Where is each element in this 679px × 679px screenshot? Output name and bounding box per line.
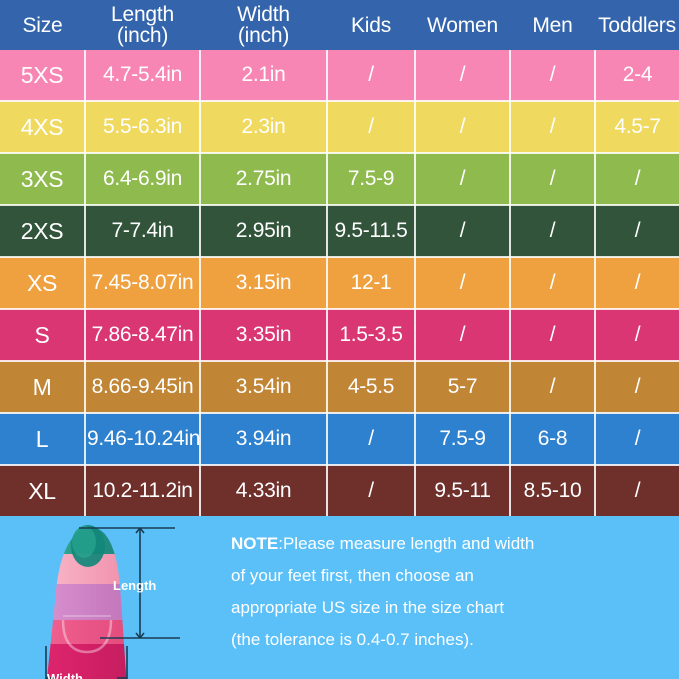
cell-length: 5.5-6.3in bbox=[85, 101, 200, 153]
table-header: Size Length (inch) Width (inch) Kids Wom… bbox=[0, 0, 679, 50]
cell-men: / bbox=[510, 101, 595, 153]
header-sublabel-width: (inch) bbox=[202, 25, 325, 46]
table-row: XS 7.45-8.07in 3.15in 12-1 / / / bbox=[0, 257, 679, 309]
cell-size: 2XS bbox=[0, 205, 85, 257]
cell-women: 7.5-9 bbox=[415, 413, 510, 465]
cell-length: 4.7-5.4in bbox=[85, 50, 200, 101]
table-row: S 7.86-8.47in 3.35in 1.5-3.5 / / / bbox=[0, 309, 679, 361]
cell-toddlers: / bbox=[595, 257, 679, 309]
size-chart-table: Size Length (inch) Width (inch) Kids Wom… bbox=[0, 0, 679, 516]
header-label-length: Length bbox=[111, 3, 174, 26]
table-row: 4XS 5.5-6.3in 2.3in / / / 4.5-7 bbox=[0, 101, 679, 153]
cell-women: 5-7 bbox=[415, 361, 510, 413]
column-header-men: Men bbox=[510, 0, 595, 50]
cell-kids: 9.5-11.5 bbox=[327, 205, 415, 257]
cell-size: 5XS bbox=[0, 50, 85, 101]
cell-women: / bbox=[415, 309, 510, 361]
cell-toddlers: 4.5-7 bbox=[595, 101, 679, 153]
cell-toddlers: / bbox=[595, 309, 679, 361]
cell-kids: 7.5-9 bbox=[327, 153, 415, 205]
note-prefix: NOTE bbox=[231, 534, 278, 553]
note-line-1-rest: :Please measure length and width bbox=[278, 534, 534, 553]
cell-men: / bbox=[510, 205, 595, 257]
cell-women: / bbox=[415, 50, 510, 101]
cell-women: / bbox=[415, 257, 510, 309]
note-line-1: NOTE:Please measure length and width bbox=[231, 528, 651, 560]
cell-length: 7.45-8.07in bbox=[85, 257, 200, 309]
cell-kids: / bbox=[327, 413, 415, 465]
cell-length: 8.66-9.45in bbox=[85, 361, 200, 413]
table-row: 5XS 4.7-5.4in 2.1in / / / 2-4 bbox=[0, 50, 679, 101]
cell-toddlers: / bbox=[595, 361, 679, 413]
cell-men: 6-8 bbox=[510, 413, 595, 465]
note-panel: Length Width NOTE:Please measure length … bbox=[0, 516, 679, 679]
cell-width: 3.54in bbox=[200, 361, 327, 413]
size-chart-page: Size Length (inch) Width (inch) Kids Wom… bbox=[0, 0, 679, 679]
cell-width: 4.33in bbox=[200, 465, 327, 516]
cell-women: / bbox=[415, 101, 510, 153]
cell-length: 7-7.4in bbox=[85, 205, 200, 257]
table-row: 2XS 7-7.4in 2.95in 9.5-11.5 / / / bbox=[0, 205, 679, 257]
note-line-2: of your feet first, then choose an bbox=[231, 560, 651, 592]
cell-size: XS bbox=[0, 257, 85, 309]
cell-kids: / bbox=[327, 101, 415, 153]
cell-length: 6.4-6.9in bbox=[85, 153, 200, 205]
header-row: Size Length (inch) Width (inch) Kids Wom… bbox=[0, 0, 679, 50]
cell-women: / bbox=[415, 153, 510, 205]
table-row: L 9.46-10.24in 3.94in / 7.5-9 6-8 / bbox=[0, 413, 679, 465]
table-row: M 8.66-9.45in 3.54in 4-5.5 5-7 / / bbox=[0, 361, 679, 413]
cell-width: 3.35in bbox=[200, 309, 327, 361]
cell-women: / bbox=[415, 205, 510, 257]
cell-size: XL bbox=[0, 465, 85, 516]
cell-length: 9.46-10.24in bbox=[85, 413, 200, 465]
cell-toddlers: / bbox=[595, 205, 679, 257]
header-label-toddlers: Toddlers bbox=[598, 14, 676, 37]
cell-toddlers: 2-4 bbox=[595, 50, 679, 101]
cell-size: 3XS bbox=[0, 153, 85, 205]
swim-fin-illustration: Length Width bbox=[0, 516, 225, 679]
cell-size: S bbox=[0, 309, 85, 361]
header-label-kids: Kids bbox=[351, 14, 391, 37]
header-label-women: Women bbox=[427, 14, 498, 37]
cell-toddlers: / bbox=[595, 413, 679, 465]
cell-size: M bbox=[0, 361, 85, 413]
column-header-kids: Kids bbox=[327, 0, 415, 50]
cell-kids: 1.5-3.5 bbox=[327, 309, 415, 361]
cell-men: 8.5-10 bbox=[510, 465, 595, 516]
cell-size: L bbox=[0, 413, 85, 465]
note-line-4: (the tolerance is 0.4-0.7 inches). bbox=[231, 624, 651, 656]
cell-toddlers: / bbox=[595, 153, 679, 205]
header-label-men: Men bbox=[532, 14, 572, 37]
cell-width: 3.94in bbox=[200, 413, 327, 465]
cell-kids: 4-5.5 bbox=[327, 361, 415, 413]
note-text: NOTE:Please measure length and width of … bbox=[231, 528, 651, 656]
cell-kids: / bbox=[327, 50, 415, 101]
fin-toe-highlight bbox=[72, 526, 96, 558]
column-header-length: Length (inch) bbox=[85, 0, 200, 50]
cell-men: / bbox=[510, 309, 595, 361]
cell-men: / bbox=[510, 361, 595, 413]
cell-women: 9.5-11 bbox=[415, 465, 510, 516]
note-line-3: appropriate US size in the size chart bbox=[231, 592, 651, 624]
cell-length: 10.2-11.2in bbox=[85, 465, 200, 516]
cell-width: 2.95in bbox=[200, 205, 327, 257]
cell-men: / bbox=[510, 257, 595, 309]
table-body: 5XS 4.7-5.4in 2.1in / / / 2-4 4XS 5.5-6.… bbox=[0, 50, 679, 516]
cell-men: / bbox=[510, 50, 595, 101]
column-header-size: Size bbox=[0, 0, 85, 50]
cell-length: 7.86-8.47in bbox=[85, 309, 200, 361]
header-label-size: Size bbox=[22, 14, 62, 37]
cell-men: / bbox=[510, 153, 595, 205]
table-row: 3XS 6.4-6.9in 2.75in 7.5-9 / / / bbox=[0, 153, 679, 205]
cell-width: 2.1in bbox=[200, 50, 327, 101]
fin-diagram-svg bbox=[0, 516, 225, 679]
length-dimension-label: Length bbox=[113, 578, 156, 593]
cell-width: 2.75in bbox=[200, 153, 327, 205]
cell-width: 2.3in bbox=[200, 101, 327, 153]
table-row: XL 10.2-11.2in 4.33in / 9.5-11 8.5-10 / bbox=[0, 465, 679, 516]
column-header-width: Width (inch) bbox=[200, 0, 327, 50]
cell-toddlers: / bbox=[595, 465, 679, 516]
header-sublabel-length: (inch) bbox=[87, 25, 198, 46]
header-label-width: Width bbox=[237, 3, 290, 26]
column-header-women: Women bbox=[415, 0, 510, 50]
cell-kids: 12-1 bbox=[327, 257, 415, 309]
cell-width: 3.15in bbox=[200, 257, 327, 309]
cell-size: 4XS bbox=[0, 101, 85, 153]
cell-kids: / bbox=[327, 465, 415, 516]
column-header-toddlers: Toddlers bbox=[595, 0, 679, 50]
width-dimension-label: Width bbox=[47, 671, 83, 679]
